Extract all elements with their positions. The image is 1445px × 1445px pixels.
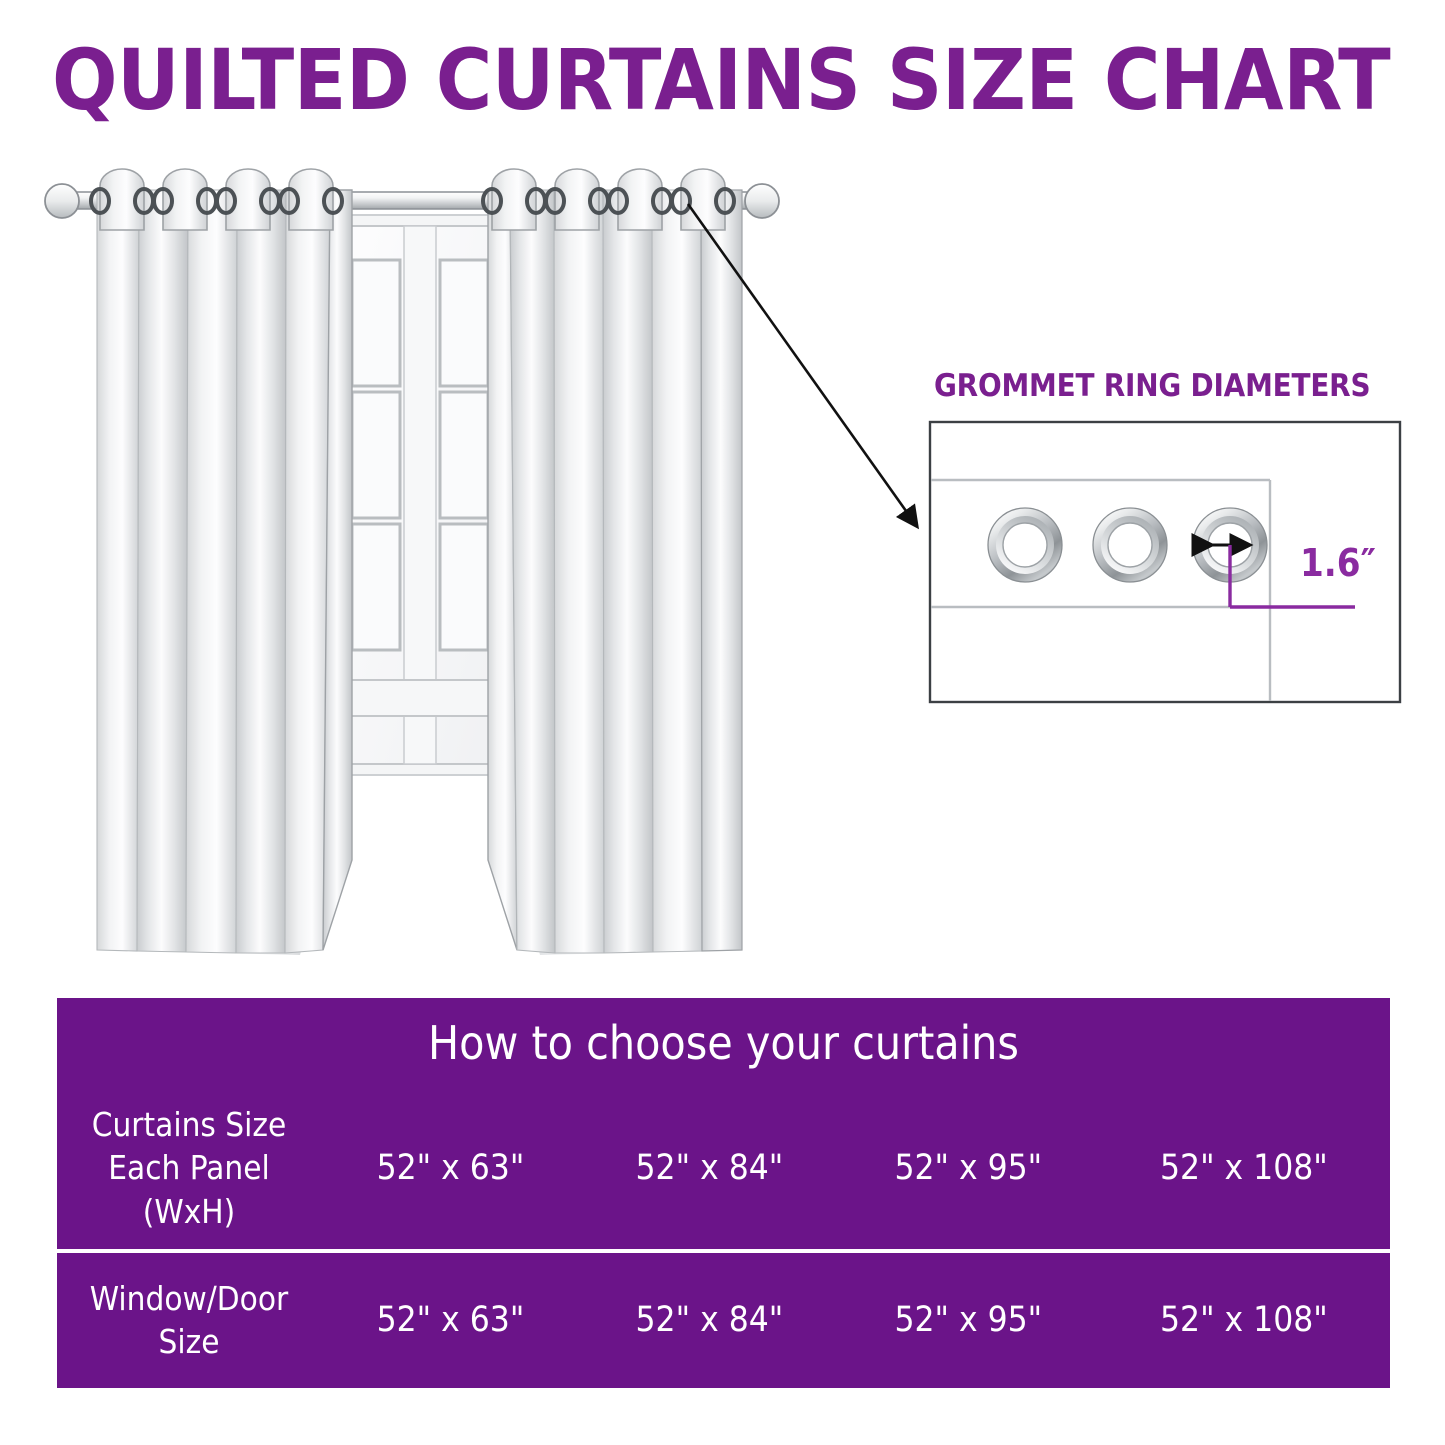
- window-graphic: [330, 215, 510, 775]
- table-row: Curtains Size Each Panel (WxH) 52" x 63"…: [57, 1087, 1390, 1253]
- cell-panel-size-1: 52" x 63": [321, 1087, 580, 1253]
- cell-panel-size-4: 52" x 108": [1098, 1087, 1390, 1253]
- table-title: How to choose your curtains: [57, 998, 1390, 1087]
- callout-arrow: [640, 170, 960, 550]
- row-label-line-3: (WxH): [61, 1190, 317, 1234]
- table-row: Window/Door Size 52" x 63" 52" x 84" 52"…: [57, 1253, 1390, 1388]
- rod-finial-left: [45, 184, 79, 218]
- grommet-panel-heading: GROMMET RING DIAMETERS: [934, 369, 1404, 403]
- cell-window-size-2: 52" x 84": [580, 1253, 839, 1388]
- page-title: QUILTED CURTAINS SIZE CHART: [52, 34, 1429, 126]
- row-label-window-door-size: Window/Door Size: [57, 1253, 321, 1388]
- size-table: How to choose your curtains Curtains Siz…: [57, 998, 1390, 1388]
- cell-window-size-1: 52" x 63": [321, 1253, 580, 1388]
- grommet-ring-1: [988, 508, 1062, 582]
- cell-panel-size-3: 52" x 95": [839, 1087, 1098, 1253]
- size-chart-page: QUILTED CURTAINS SIZE CHART: [0, 0, 1445, 1445]
- cell-window-size-3: 52" x 95": [839, 1253, 1098, 1388]
- cell-panel-size-2: 52" x 84": [580, 1087, 839, 1253]
- table-header-row: How to choose your curtains: [57, 998, 1390, 1087]
- row-label-line-2: Each Panel: [61, 1146, 317, 1190]
- grommet-ring-2: [1093, 508, 1167, 582]
- cell-window-size-4: 52" x 108": [1098, 1253, 1390, 1388]
- row-label-line-2: Size: [61, 1320, 317, 1364]
- grommet-diameter-label: 1.6″: [1300, 541, 1420, 585]
- row-label-curtains-size: Curtains Size Each Panel (WxH): [57, 1087, 321, 1253]
- curtain-panel-left: [91, 169, 352, 955]
- row-label-line-1: Curtains Size: [61, 1103, 317, 1147]
- row-label-line-1: Window/Door: [61, 1277, 317, 1321]
